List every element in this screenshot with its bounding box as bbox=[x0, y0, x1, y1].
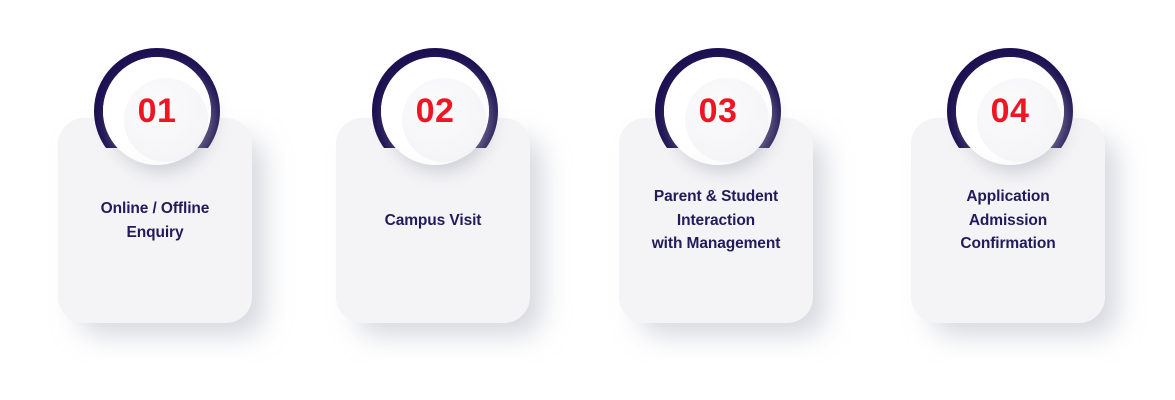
process-step-1: Online / Offline Enquiry 01 bbox=[58, 48, 280, 358]
step-label-3: Parent & Student Interaction with Manage… bbox=[652, 185, 781, 256]
process-step-4: Application Admission Confirmation 04 bbox=[911, 48, 1133, 358]
step-badge-2: 02 bbox=[372, 48, 498, 174]
process-steps-diagram: Online / Offline Enquiry 01 Campus Visit… bbox=[0, 0, 1175, 400]
step-number-3: 03 bbox=[664, 57, 772, 165]
process-step-3: Parent & Student Interaction with Manage… bbox=[619, 48, 841, 358]
step-number-4: 04 bbox=[956, 57, 1064, 165]
step-badge-3: 03 bbox=[655, 48, 781, 174]
step-label-4: Application Admission Confirmation bbox=[960, 185, 1055, 256]
step-badge-1: 01 bbox=[94, 48, 220, 174]
process-step-2: Campus Visit 02 bbox=[336, 48, 558, 358]
step-label-2: Campus Visit bbox=[385, 209, 482, 233]
step-number-1: 01 bbox=[103, 57, 211, 165]
step-number-2: 02 bbox=[381, 57, 489, 165]
step-badge-4: 04 bbox=[947, 48, 1073, 174]
step-label-1: Online / Offline Enquiry bbox=[101, 197, 210, 244]
